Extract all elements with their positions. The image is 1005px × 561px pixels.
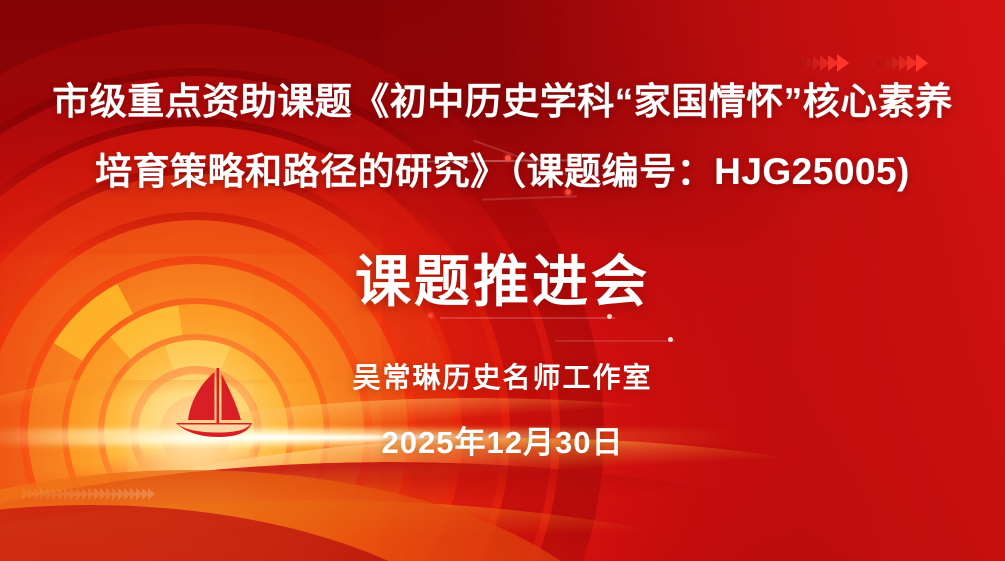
event-date: 2025年12月30日 [0,424,1005,462]
headline: 课题推进会 [0,251,1005,313]
page-title-line-2: 培育策略和路径的研究》（课题编号：HJG25005) [0,150,1005,194]
title-slide: 市级重点资助课题《初中历史学科“家国情怀”核心素养 培育策略和路径的研究》（课题… [0,0,1005,561]
text-content: 市级重点资助课题《初中历史学科“家国情怀”核心素养 培育策略和路径的研究》（课题… [0,0,1005,561]
organization-name: 吴常琳历史名师工作室 [0,361,1005,395]
page-title-line-1: 市级重点资助课题《初中历史学科“家国情怀”核心素养 [0,80,1005,124]
